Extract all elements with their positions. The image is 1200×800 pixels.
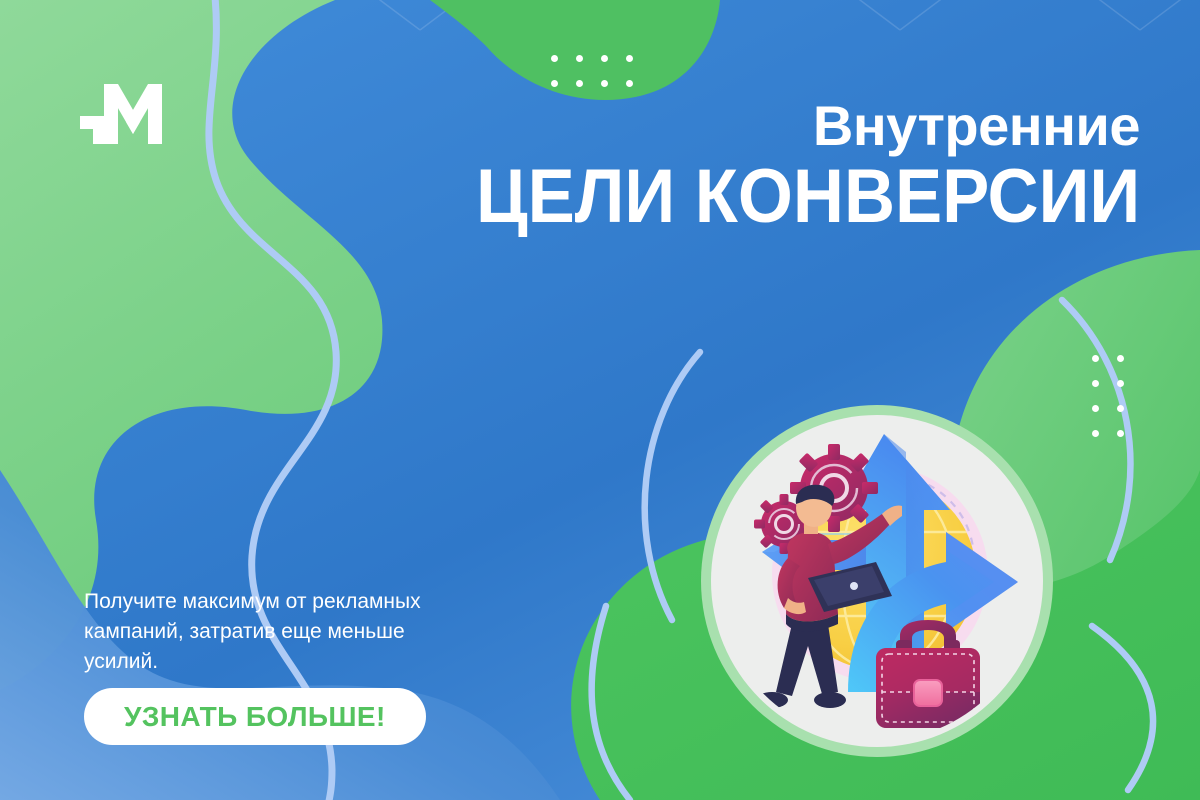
headline-title: ЦЕЛИ КОНВЕРСИИ [476, 160, 1140, 234]
learn-more-button[interactable]: УЗНАТЬ БОЛЬШЕ! [84, 688, 426, 745]
dot [1092, 355, 1099, 362]
dot [576, 55, 583, 62]
dot [626, 80, 633, 87]
dot-grid-top [551, 55, 633, 87]
dot-grid-right [1092, 355, 1124, 437]
dot [1092, 405, 1099, 412]
dot [1117, 430, 1124, 437]
dot [1092, 380, 1099, 387]
dot [1117, 380, 1124, 387]
brand-logo[interactable] [78, 78, 174, 150]
subcopy-text: Получите максимум от рекламных кампаний,… [84, 587, 474, 676]
hero-illustration [688, 392, 1066, 770]
headline-kicker: Внутренние [426, 98, 1140, 154]
dot [551, 80, 558, 87]
headline-block: Внутренние ЦЕЛИ КОНВЕРСИИ [426, 98, 1140, 234]
promo-banner: Внутренние ЦЕЛИ КОНВЕРСИИ Получите макси… [0, 0, 1200, 800]
dot [626, 55, 633, 62]
dot [601, 55, 608, 62]
dot [576, 80, 583, 87]
dot [1117, 405, 1124, 412]
dot [1117, 355, 1124, 362]
dot [1092, 430, 1099, 437]
dot [551, 55, 558, 62]
dot [601, 80, 608, 87]
